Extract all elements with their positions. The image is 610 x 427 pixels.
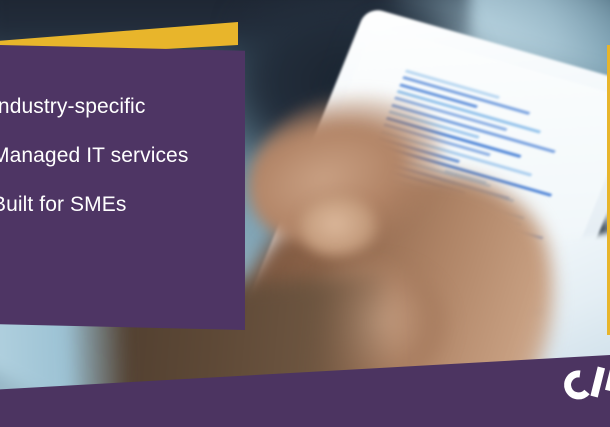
headline-block: Industry-specific Managed IT services Bu…	[0, 96, 242, 215]
headline-line-2: Managed IT services	[0, 145, 242, 166]
headline-line-3: Built for SMEs	[0, 194, 242, 215]
photo-fingertip	[300, 196, 378, 258]
brand-logo-mark	[556, 361, 610, 405]
headline-line-1: Industry-specific	[0, 96, 242, 117]
chart-bar	[405, 69, 500, 99]
marketing-banner: Industry-specific Managed IT services Bu…	[0, 0, 610, 427]
